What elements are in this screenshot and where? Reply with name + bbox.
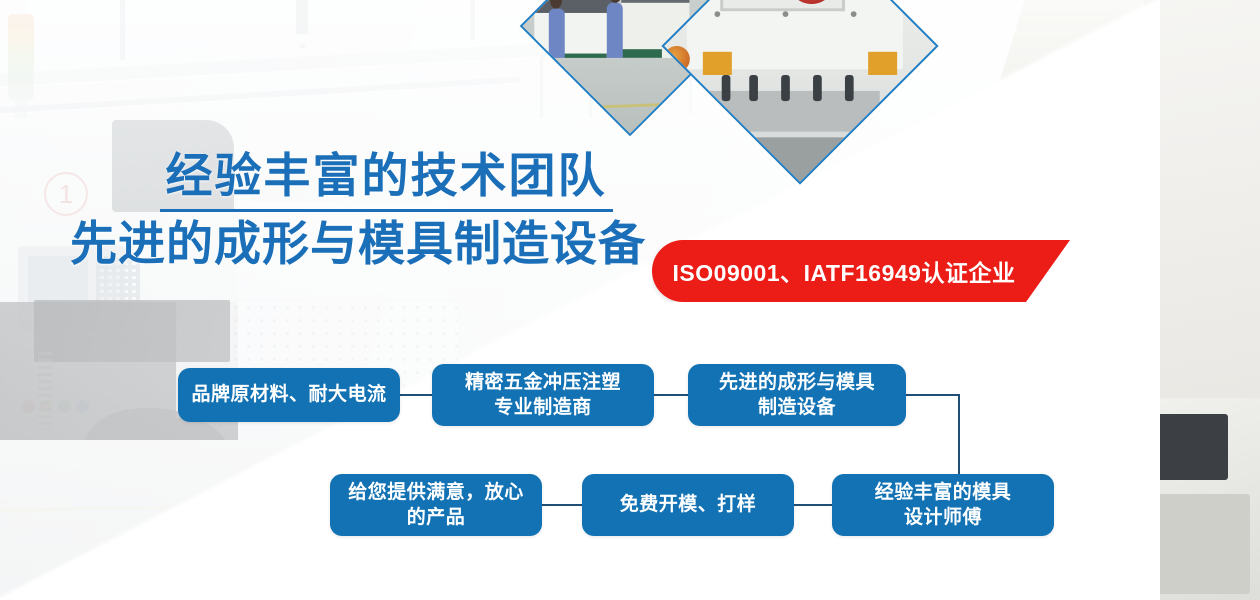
flow-diagram: 品牌原材料、耐大电流 精密五金冲压注塑 专业制造商 先进的成形与模具 制造设备 … (0, 0, 1260, 600)
flow-node-6-line-1: 经验丰富的模具 (875, 482, 1012, 503)
connector-n3-right (904, 394, 960, 396)
flow-node-4-line-1: 给您提供满意，放心 (348, 482, 524, 503)
flow-node-5-label: 免费开模、打样 (620, 492, 757, 517)
flow-node-4[interactable]: 给您提供满意，放心 的产品 (330, 474, 542, 536)
flow-node-3-line-2: 制造设备 (758, 397, 836, 418)
connector-n5-n6 (792, 504, 834, 506)
flow-node-4-line-2: 的产品 (407, 507, 466, 528)
flow-node-1-label: 品牌原材料、耐大电流 (191, 382, 386, 407)
flow-node-2-line-1: 精密五金冲压注塑 (465, 372, 621, 393)
flow-node-2[interactable]: 精密五金冲压注塑 专业制造商 (432, 364, 654, 426)
flow-node-5[interactable]: 免费开模、打样 (582, 474, 794, 536)
flow-node-1[interactable]: 品牌原材料、耐大电流 (178, 368, 400, 422)
connector-n1-n2 (398, 394, 434, 396)
flow-node-2-line-2: 专业制造商 (494, 397, 592, 418)
flow-node-4-label: 给您提供满意，放心 的产品 (348, 480, 524, 530)
flow-node-3[interactable]: 先进的成形与模具 制造设备 (688, 364, 906, 426)
flow-node-6-label: 经验丰富的模具 设计师傅 (875, 480, 1012, 530)
connector-n2-n3 (652, 394, 690, 396)
flow-node-2-label: 精密五金冲压注塑 专业制造商 (465, 370, 621, 420)
connector-n4-n5 (540, 504, 584, 506)
flow-node-3-label: 先进的成形与模具 制造设备 (719, 370, 875, 420)
flow-node-6-line-2: 设计师傅 (904, 507, 982, 528)
marketing-banner: 1 6S 整 顿 必需品分区放置 明确标 (0, 0, 1260, 600)
flow-node-6[interactable]: 经验丰富的模具 设计师傅 (832, 474, 1054, 536)
flow-node-3-line-1: 先进的成形与模具 (719, 372, 875, 393)
